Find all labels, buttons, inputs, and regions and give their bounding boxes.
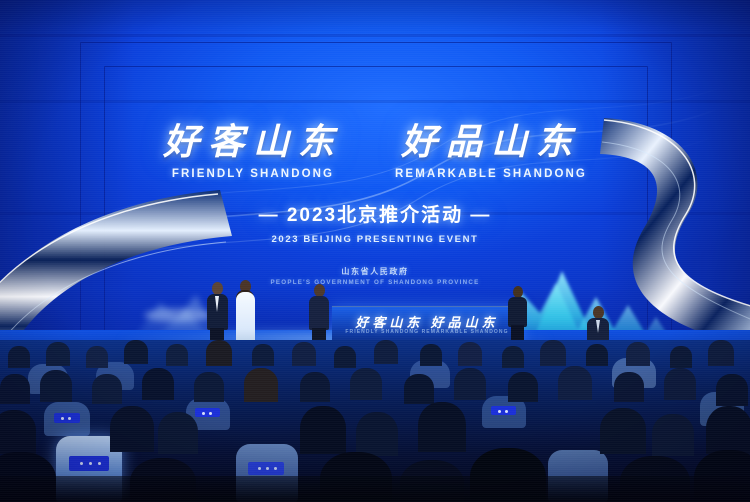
audience-head (166, 344, 188, 366)
audience-head (614, 372, 644, 402)
audience-head (664, 368, 696, 400)
audience-head (334, 346, 356, 368)
audience-head (0, 410, 36, 454)
audience-area (0, 340, 750, 502)
audience-head (46, 342, 70, 366)
organizer-cn: 山东省人民政府 (0, 266, 750, 277)
chair-placard (195, 408, 220, 417)
audience-head (92, 374, 122, 404)
audience-head (458, 342, 482, 366)
audience-head (142, 368, 174, 400)
audience-head (706, 406, 750, 454)
chair-placard (69, 456, 109, 471)
audience-head (586, 344, 608, 366)
host-female (234, 280, 256, 348)
audience-head (454, 368, 486, 400)
audience-head (350, 368, 382, 400)
slogan-friendly-cn: 好客山东 (163, 124, 343, 160)
audience-head (252, 344, 274, 366)
audience-head (420, 344, 442, 366)
slogan-remarkable-en: REMARKABLE SHANDONG (395, 168, 587, 180)
audience-head (206, 340, 232, 366)
audience-head (300, 372, 330, 402)
audience-head (716, 374, 748, 406)
audience-head (600, 408, 646, 454)
audience-shoulders (0, 476, 750, 502)
slogan-friendly: 好客山东 FRIENDLY SHANDONG (163, 124, 343, 180)
headline-block: 好客山东 FRIENDLY SHANDONG 好品山东 REMARKABLE S… (0, 124, 750, 245)
audience-head (244, 368, 278, 402)
audience-head (40, 370, 72, 402)
audience-head (652, 414, 694, 456)
event-title-en: 2023 BEIJING PRESENTING EVENT (0, 234, 750, 245)
speaker-at-podium (308, 284, 330, 346)
chair-placard (248, 462, 284, 475)
staff-left-of-screen (508, 286, 528, 342)
audience-head (194, 372, 224, 402)
chair-placard (491, 406, 516, 415)
chair-placard (54, 413, 80, 423)
podium-slogan-en: FRIENDLY SHANDONG REMARKABLE SHANDONG (332, 329, 522, 335)
audience-head (540, 340, 566, 366)
audience-head (300, 406, 346, 454)
audience-head (708, 340, 734, 366)
event-title-cn: — 2023北京推介活动 — (0, 200, 750, 227)
audience-head (670, 346, 692, 368)
audience-head (404, 374, 434, 404)
audience-head (158, 412, 198, 454)
organizer-en: PEOPLE'S GOVERNMENT OF SHANDONG PROVINCE (0, 279, 750, 286)
headline-row: 好客山东 FRIENDLY SHANDONG 好品山东 REMARKABLE S… (0, 124, 750, 180)
audience-head (110, 406, 154, 452)
audience-head (418, 402, 466, 452)
audience-head (502, 346, 524, 368)
slogan-remarkable: 好品山东 REMARKABLE SHANDONG (395, 124, 587, 180)
audience-head (0, 374, 30, 404)
audience-head (508, 372, 538, 402)
host-male (206, 282, 228, 348)
audience-head (626, 342, 650, 366)
chair (44, 402, 90, 436)
audience-head (8, 346, 30, 368)
audience-head (86, 346, 108, 368)
audience-head (356, 412, 398, 456)
audience-head (292, 342, 316, 366)
audience-head (124, 340, 148, 364)
audience-head (558, 366, 592, 400)
slogan-remarkable-cn: 好品山东 (395, 124, 587, 160)
event-photo: 好客山东 FRIENDLY SHANDONG 好品山东 REMARKABLE S… (0, 0, 750, 502)
audience-head (374, 340, 398, 364)
slogan-friendly-en: FRIENDLY SHANDONG (163, 168, 343, 180)
